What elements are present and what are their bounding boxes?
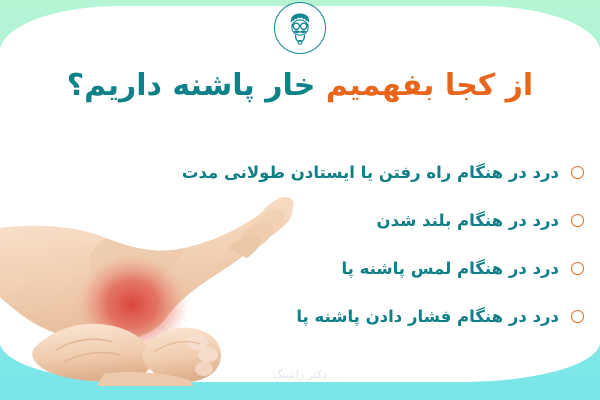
infographic-poster: از کجا بفهمیم خار پاشنه داریم؟ — [0, 0, 600, 400]
list-item[interactable]: درد در هنگام لمس پاشنه پا — [26, 244, 586, 292]
list-item[interactable]: درد در هنگام راه رفتن یا ایستادن طولانی … — [26, 148, 586, 196]
list-item[interactable]: درد در هنگام بلند شدن — [26, 196, 586, 244]
bullet-circle-icon — [571, 310, 584, 323]
list-item-label: درد در هنگام فشار دادن پاشنه پا — [296, 307, 559, 326]
list-item-label: درد در هنگام راه رفتن یا ایستادن طولانی … — [182, 163, 559, 182]
bullet-circle-icon — [571, 262, 584, 275]
list-item-label: درد در هنگام لمس پاشنه پا — [341, 259, 559, 278]
list-item[interactable]: درد در هنگام فشار دادن پاشنه پا — [26, 292, 586, 340]
brand-logo — [274, 2, 326, 54]
bullet-circle-icon — [571, 166, 584, 179]
page-title: از کجا بفهمیم خار پاشنه داریم؟ — [0, 66, 600, 107]
bullet-circle-icon — [571, 214, 584, 227]
title-teal-segment: خار پاشنه داریم؟ — [67, 68, 316, 103]
doctor-character-icon — [274, 2, 326, 54]
symptom-list: درد در هنگام راه رفتن یا ایستادن طولانی … — [26, 148, 586, 340]
title-orange-segment: از کجا بفهمیم — [326, 68, 533, 103]
list-item-label: درد در هنگام بلند شدن — [377, 211, 559, 230]
watermark: دکتر رایتینگ — [273, 368, 327, 381]
